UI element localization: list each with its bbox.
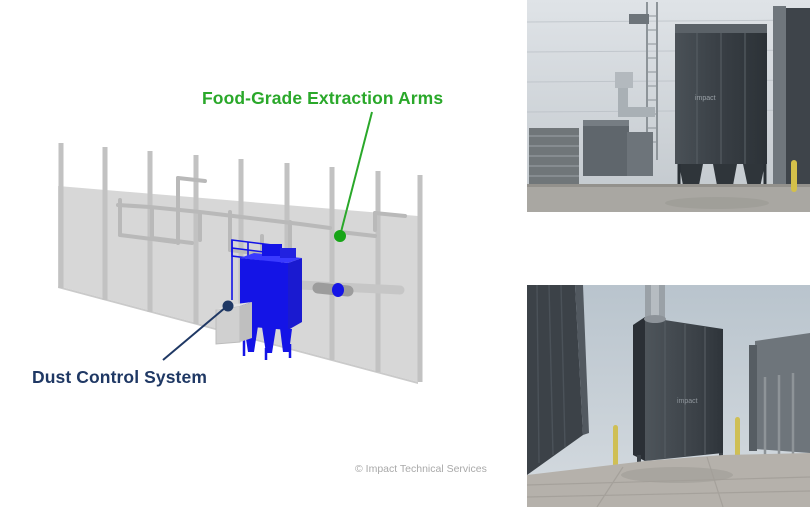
unit-brand-text-bottom: impact: [677, 398, 698, 405]
control-panel-box: [216, 302, 252, 344]
callout-label-dust-control: Dust Control System: [32, 367, 207, 388]
factory-3d-diagram: [0, 0, 527, 507]
diagram-panel: Food-Grade Extraction Arms Dust Control …: [0, 0, 527, 507]
copyright-notice: © Impact Technical Services: [355, 463, 487, 475]
photo-column: impact: [527, 0, 810, 507]
callout-label-extraction-arms: Food-Grade Extraction Arms: [202, 88, 443, 109]
dust-collector-exterior-photo: impact: [527, 0, 810, 212]
dust-collector-walkway-photo: impact: [527, 285, 810, 507]
unit-brand-text: impact: [695, 95, 716, 102]
